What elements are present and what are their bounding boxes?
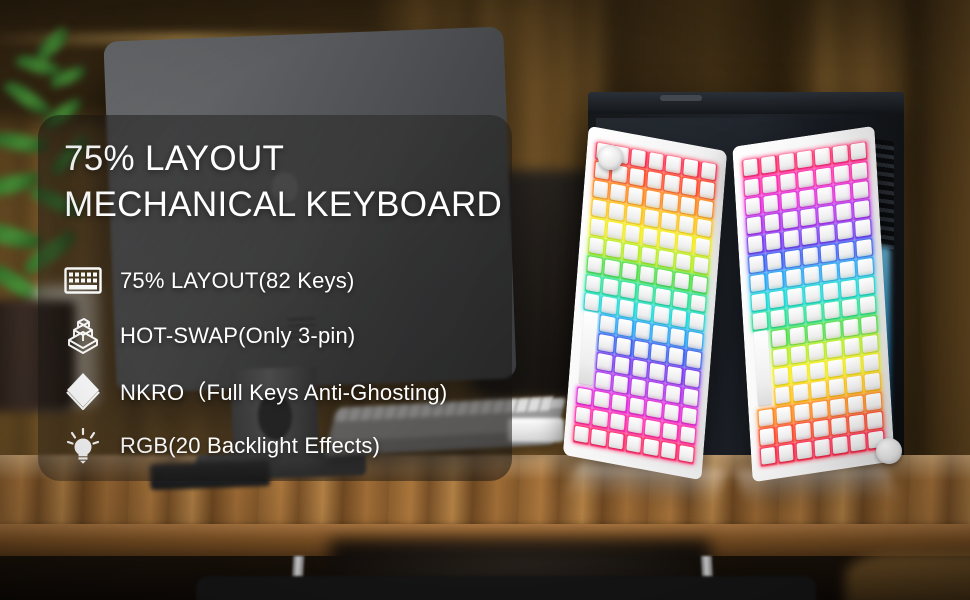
keycap[interactable] — [657, 269, 672, 287]
keycap[interactable] — [848, 395, 864, 413]
keycap[interactable] — [832, 436, 848, 454]
keycap[interactable] — [644, 438, 659, 456]
keycap[interactable] — [776, 406, 792, 424]
keycap[interactable] — [601, 297, 616, 315]
keycap[interactable] — [661, 441, 676, 459]
keycap[interactable] — [854, 200, 870, 218]
diamond-icon — [60, 371, 106, 411]
keycap[interactable] — [620, 281, 635, 299]
white-desk-accessory — [508, 418, 564, 442]
keycap[interactable] — [841, 280, 857, 298]
keycap[interactable] — [864, 354, 880, 372]
keycap[interactable] — [699, 181, 714, 199]
keycap[interactable] — [682, 178, 697, 196]
product-banner: 75% LAYOUT MECHANICAL KEYBOARD — [0, 0, 970, 600]
keycap[interactable] — [666, 156, 681, 174]
keycap[interactable] — [835, 184, 851, 202]
keycap[interactable] — [771, 329, 787, 347]
keycap[interactable] — [638, 284, 653, 302]
keycap[interactable] — [851, 143, 867, 161]
switch-icon — [60, 316, 106, 356]
keycap[interactable] — [588, 237, 603, 255]
keycap[interactable] — [645, 190, 660, 208]
pc-case-top-panel — [588, 92, 904, 114]
keycap[interactable] — [596, 372, 611, 390]
keycap[interactable] — [803, 247, 819, 265]
keycap[interactable] — [607, 221, 622, 239]
keycap[interactable] — [617, 319, 632, 337]
keyboard-right-desk-reflection — [735, 466, 898, 505]
keycap[interactable] — [591, 428, 606, 446]
keycap[interactable] — [631, 149, 646, 167]
keycap[interactable] — [823, 282, 839, 300]
keycap[interactable] — [761, 156, 777, 174]
keycap[interactable] — [616, 337, 631, 355]
keycap[interactable] — [619, 300, 634, 318]
foreground-dark-device — [196, 576, 816, 600]
keycap[interactable] — [806, 304, 822, 322]
keycap[interactable] — [679, 215, 694, 233]
mechanical-keyboard-left[interactable] — [563, 126, 727, 481]
keycap[interactable] — [577, 387, 592, 405]
keycap[interactable] — [642, 228, 657, 246]
feature-item-hotswap: HOT-SWAP(Only 3-pin) — [60, 308, 510, 363]
keycap[interactable] — [648, 382, 663, 400]
keycap[interactable] — [698, 200, 713, 218]
keycap[interactable] — [811, 381, 827, 399]
keycap[interactable] — [632, 360, 647, 378]
keycap[interactable] — [817, 186, 833, 204]
keycap[interactable] — [647, 400, 662, 418]
keycap[interactable] — [658, 250, 673, 268]
keycap[interactable] — [666, 385, 681, 403]
keycap[interactable] — [830, 398, 846, 416]
keycap[interactable] — [778, 444, 794, 462]
keycap[interactable] — [661, 212, 676, 230]
wooden-chair-right — [845, 552, 970, 600]
keycap[interactable] — [660, 231, 675, 249]
keycap[interactable] — [655, 287, 670, 305]
keycap[interactable] — [629, 168, 644, 186]
keycap[interactable] — [645, 419, 660, 437]
keycap[interactable] — [677, 234, 692, 252]
keycap[interactable] — [800, 208, 816, 226]
keycap[interactable] — [639, 265, 654, 283]
keycap[interactable] — [631, 378, 646, 396]
keycap[interactable] — [746, 216, 762, 234]
keycap[interactable] — [598, 334, 613, 352]
keycap[interactable] — [695, 238, 710, 256]
keycap[interactable] — [636, 303, 651, 321]
keycap[interactable] — [828, 359, 844, 377]
keycap[interactable] — [807, 324, 823, 342]
keycap[interactable] — [785, 249, 801, 267]
keycap[interactable] — [683, 388, 698, 406]
keycap[interactable] — [650, 363, 665, 381]
keycap[interactable] — [810, 362, 826, 380]
keycap[interactable] — [774, 367, 790, 385]
keycap[interactable] — [610, 413, 625, 431]
keycap[interactable] — [833, 145, 849, 163]
feature-label: HOT-SWAP(Only 3-pin) — [120, 323, 355, 349]
keycap[interactable] — [866, 392, 882, 410]
keycap[interactable] — [782, 211, 798, 229]
keycap[interactable] — [818, 206, 834, 224]
keycap[interactable] — [685, 369, 700, 387]
keycap[interactable] — [760, 447, 776, 465]
keycap[interactable] — [591, 199, 606, 217]
feature-label: NKRO（Full Keys Anti-Ghosting) — [120, 375, 447, 407]
keycap[interactable] — [804, 266, 820, 284]
keycap[interactable] — [625, 225, 640, 243]
keycap[interactable] — [780, 173, 796, 191]
keycap[interactable] — [855, 219, 871, 237]
keycap[interactable] — [689, 313, 704, 331]
keycap[interactable] — [836, 203, 852, 221]
keycap[interactable] — [799, 189, 815, 207]
keycap[interactable] — [809, 343, 825, 361]
keycap[interactable] — [629, 397, 644, 415]
keycap[interactable] — [837, 222, 853, 240]
keycap[interactable] — [628, 416, 643, 434]
keycap[interactable] — [787, 288, 803, 306]
keycap[interactable] — [814, 439, 830, 457]
keycap[interactable] — [758, 408, 774, 426]
keycap[interactable] — [610, 184, 625, 202]
keycap[interactable] — [613, 375, 628, 393]
keycap[interactable] — [829, 378, 845, 396]
keycap[interactable] — [585, 275, 600, 293]
keycap[interactable] — [663, 193, 678, 211]
keycap[interactable] — [842, 299, 858, 317]
keycap[interactable] — [789, 326, 805, 344]
keycap[interactable] — [674, 272, 689, 290]
keycap[interactable] — [863, 335, 879, 353]
keycap[interactable] — [606, 240, 621, 258]
keycap[interactable] — [612, 394, 627, 412]
keyboard-icon — [60, 261, 106, 301]
keycap[interactable] — [673, 291, 688, 309]
keycap[interactable] — [759, 428, 775, 446]
keycap[interactable] — [779, 153, 795, 171]
keycap[interactable] — [683, 159, 698, 177]
lightbulb-icon — [60, 426, 106, 466]
keycap[interactable] — [574, 425, 589, 443]
keycap[interactable] — [801, 227, 817, 245]
keycap[interactable] — [667, 366, 682, 384]
keycap[interactable] — [797, 151, 813, 169]
keyboard-right-volume-knob[interactable] — [876, 438, 902, 464]
keycap[interactable] — [609, 432, 624, 450]
keycap[interactable] — [769, 290, 785, 308]
keycap[interactable] — [680, 197, 695, 215]
keycap[interactable] — [641, 247, 656, 265]
keycap[interactable] — [860, 296, 876, 314]
keycap[interactable] — [744, 178, 760, 196]
keycap[interactable] — [834, 164, 850, 182]
keycap[interactable] — [604, 259, 619, 277]
keycap[interactable] — [857, 239, 873, 257]
page-title: 75% LAYOUT MECHANICAL KEYBOARD — [64, 136, 504, 228]
keycap[interactable] — [651, 344, 666, 362]
keycap[interactable] — [853, 181, 869, 199]
keycap[interactable] — [770, 310, 786, 328]
keycap[interactable] — [686, 350, 701, 368]
keycap[interactable] — [793, 384, 809, 402]
keycap[interactable] — [584, 293, 599, 311]
spacebar-key[interactable] — [753, 330, 772, 406]
feature-item-nkro: NKRO（Full Keys Anti-Ghosting) — [60, 363, 510, 418]
keycap[interactable] — [792, 365, 808, 383]
keycap[interactable] — [648, 153, 663, 171]
keycap[interactable] — [750, 274, 766, 292]
keycap[interactable] — [867, 412, 883, 430]
feature-item-rgb: RGB(20 Backlight Effects) — [60, 418, 510, 473]
keycap[interactable] — [768, 271, 784, 289]
keycap[interactable] — [590, 218, 605, 236]
keycap[interactable] — [843, 318, 859, 336]
keycap[interactable] — [575, 406, 590, 424]
feature-item-layout: 75% LAYOUT(82 Keys) — [60, 253, 510, 308]
keycap[interactable] — [679, 445, 694, 463]
keycap[interactable] — [825, 321, 841, 339]
feature-label: RGB(20 Backlight Effects) — [120, 433, 380, 459]
keycap[interactable] — [623, 243, 638, 261]
keycap[interactable] — [788, 307, 804, 325]
keycap[interactable] — [653, 325, 668, 343]
pc-power-button[interactable] — [660, 95, 702, 101]
keycap[interactable] — [749, 255, 765, 273]
keycap[interactable] — [693, 256, 708, 274]
keycap[interactable] — [671, 310, 686, 328]
keycap[interactable] — [794, 403, 810, 421]
keycap[interactable] — [777, 425, 793, 443]
keycap[interactable] — [701, 162, 716, 180]
keycap[interactable] — [597, 353, 612, 371]
keycap[interactable] — [767, 252, 783, 270]
keycap[interactable] — [663, 422, 678, 440]
keyboard-left-volume-knob[interactable] — [598, 145, 623, 170]
keycap[interactable] — [861, 315, 877, 333]
keycap[interactable] — [847, 376, 863, 394]
keycap[interactable] — [680, 426, 695, 444]
keycap[interactable] — [786, 269, 802, 287]
keycap[interactable] — [775, 387, 791, 405]
keycap[interactable] — [603, 278, 618, 296]
keycap[interactable] — [845, 337, 861, 355]
keycap[interactable] — [812, 400, 828, 418]
keycap[interactable] — [781, 192, 797, 210]
keycap[interactable] — [839, 241, 855, 259]
keycap[interactable] — [688, 332, 703, 350]
feature-list: 75% LAYOUT(82 Keys) HOT-SWAP(Only 3-pin) — [60, 253, 510, 473]
keycap[interactable] — [819, 225, 835, 243]
keycap[interactable] — [846, 357, 862, 375]
keycap[interactable] — [772, 348, 788, 366]
keycap[interactable] — [796, 442, 812, 460]
keycap[interactable] — [752, 312, 768, 330]
keycap[interactable] — [743, 159, 759, 177]
keycap[interactable] — [626, 206, 641, 224]
keycap[interactable] — [762, 175, 778, 193]
keycap[interactable] — [622, 262, 637, 280]
keycap[interactable] — [822, 263, 838, 281]
keycap[interactable] — [593, 180, 608, 198]
keycap[interactable] — [816, 167, 832, 185]
keycap[interactable] — [747, 236, 763, 254]
keycap[interactable] — [858, 258, 874, 276]
keycap[interactable] — [664, 404, 679, 422]
keycap[interactable] — [795, 422, 811, 440]
keycap[interactable] — [634, 341, 649, 359]
keycap[interactable] — [751, 293, 767, 311]
keycap[interactable] — [745, 197, 761, 215]
keycap[interactable] — [635, 322, 650, 340]
keycap[interactable] — [824, 302, 840, 320]
keycap[interactable] — [644, 209, 659, 227]
keycap[interactable] — [831, 417, 847, 435]
keycap[interactable] — [849, 414, 865, 432]
info-overlay-card: 75% LAYOUT MECHANICAL KEYBOARD — [38, 115, 512, 481]
feature-label: 75% LAYOUT(82 Keys) — [120, 268, 354, 294]
keycap[interactable] — [593, 409, 608, 427]
keycap[interactable] — [692, 275, 707, 293]
keycap[interactable] — [600, 315, 615, 333]
mechanical-keyboard-right[interactable] — [732, 126, 894, 483]
keycap[interactable] — [654, 306, 669, 324]
keyboard-right-keys — [732, 126, 894, 483]
keycap[interactable] — [609, 202, 624, 220]
keycap[interactable] — [790, 345, 806, 363]
keycap[interactable] — [763, 194, 779, 212]
keycap[interactable] — [865, 373, 881, 391]
keycap[interactable] — [696, 219, 711, 237]
keycap[interactable] — [850, 433, 866, 451]
keycap[interactable] — [615, 356, 630, 374]
keycap[interactable] — [859, 277, 875, 295]
keycap[interactable] — [764, 214, 780, 232]
keycap[interactable] — [676, 253, 691, 271]
keycap[interactable] — [783, 230, 799, 248]
keycap[interactable] — [669, 347, 684, 365]
keycap[interactable] — [852, 162, 868, 180]
keycap[interactable] — [798, 170, 814, 188]
keycap[interactable] — [815, 148, 831, 166]
keycap[interactable] — [628, 187, 643, 205]
keycap[interactable] — [690, 294, 705, 312]
keycap[interactable] — [827, 340, 843, 358]
keycap[interactable] — [682, 407, 697, 425]
keycap[interactable] — [670, 328, 685, 346]
keycap[interactable] — [813, 420, 829, 438]
keycap[interactable] — [587, 256, 602, 274]
keycap[interactable] — [647, 171, 662, 189]
keyboard-left-keys — [563, 126, 727, 481]
keycap[interactable] — [626, 435, 641, 453]
keycap[interactable] — [840, 260, 856, 278]
keycap[interactable] — [594, 391, 609, 409]
keycap[interactable] — [821, 244, 837, 262]
keycap[interactable] — [765, 233, 781, 251]
keycap[interactable] — [805, 285, 821, 303]
keycap[interactable] — [664, 175, 679, 193]
